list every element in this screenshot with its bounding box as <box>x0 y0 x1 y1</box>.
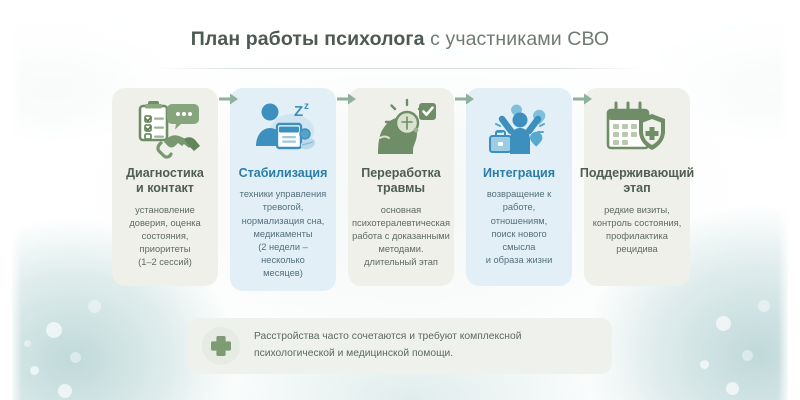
bokeh-dot <box>70 352 81 363</box>
person-sleep-medication-icon: Z z <box>246 98 320 160</box>
flow-arrow-4 <box>573 92 593 106</box>
bokeh-dot <box>24 340 31 347</box>
stages-row: Диагностика и контакт установление довер… <box>112 88 690 293</box>
bokeh-dot <box>88 300 101 313</box>
flow-arrow-2 <box>337 92 357 106</box>
infographic-canvas: План работы психолога с участниками СВО <box>0 0 800 400</box>
clipboard-checklist-handshake-icon <box>128 98 202 160</box>
left-white-band <box>0 0 22 400</box>
svg-text:Z: Z <box>294 103 303 120</box>
stage-body: техники управления тревогой, нормализаци… <box>235 188 331 280</box>
page-title-strong: План работы психолога <box>191 28 425 50</box>
right-white-band <box>778 0 800 400</box>
calendar-shield-cross-icon <box>600 98 674 160</box>
stage-title: Диагностика и контакт <box>124 166 206 197</box>
flow-arrow-3 <box>455 92 475 106</box>
bokeh-dot <box>30 366 39 375</box>
stage-card-diagnostika[interactable]: Диагностика и контакт установление довер… <box>112 88 218 286</box>
title-divider <box>155 68 645 69</box>
bokeh-dot <box>726 382 739 395</box>
svg-text:z: z <box>304 101 309 112</box>
person-arms-up-briefcase-hearts-icon <box>482 98 556 160</box>
stage-title: Стабилизация <box>237 166 330 181</box>
page-title: План работы психолога с участниками СВО <box>0 28 800 51</box>
summary-banner-text: Расстройства часто сочетаются и требуют … <box>254 329 521 362</box>
stage-title: Поддерживающий этап <box>578 166 696 197</box>
medical-cross-icon <box>202 327 240 365</box>
stage-title: Переработка травмы <box>359 166 443 197</box>
flow-arrow-1 <box>219 92 239 106</box>
stage-body: основная психотералевтическая работа с д… <box>349 204 453 270</box>
bokeh-dot <box>716 316 731 331</box>
stage-card-integraciya[interactable]: Интеграция возвращение к работе, отношен… <box>466 88 572 286</box>
stage-card-stabilizaciya[interactable]: Z z Стабилизация техники управления трев… <box>230 88 336 291</box>
page-title-light: с участниками СВО <box>425 28 610 50</box>
stage-card-pererabotka[interactable]: Переработка травмы основная психотералев… <box>348 88 454 286</box>
bokeh-dot <box>58 384 72 398</box>
summary-banner: Расстройства часто сочетаются и требуют … <box>188 318 612 374</box>
stage-body: установление доверия, оценка состояния, … <box>117 204 213 270</box>
stage-title: Интеграция <box>481 166 557 181</box>
bokeh-dot <box>758 300 770 312</box>
bokeh-dot <box>700 360 709 369</box>
bokeh-dot <box>46 322 62 338</box>
stage-body: редкие визиты, контроль состояния, профи… <box>590 204 685 257</box>
stage-body: возвращение к работе, отношениям, поиск … <box>471 188 567 267</box>
stage-card-podderzhivayushchiy[interactable]: Поддерживающий этап редкие визиты, контр… <box>584 88 690 286</box>
bokeh-dot <box>742 350 753 361</box>
head-lightbulb-check-icon <box>364 98 438 160</box>
